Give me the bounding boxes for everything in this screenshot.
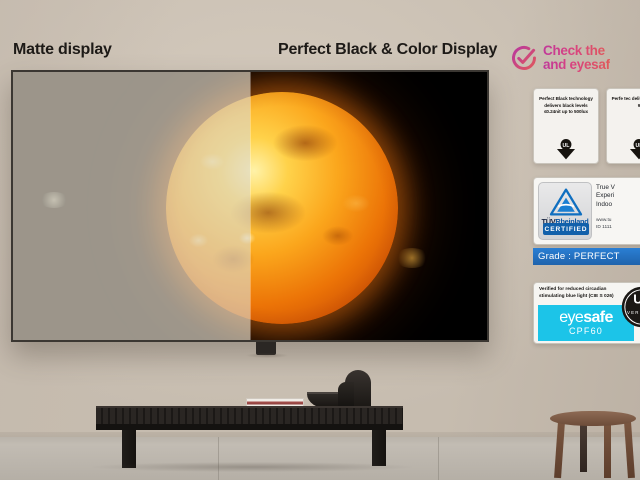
grade-label: Grade : PERFECT: [533, 251, 620, 262]
svg-text:UL: UL: [563, 143, 570, 149]
card-text: Perfect Black technology delivers black …: [534, 89, 598, 116]
svg-text:UL: UL: [633, 291, 640, 306]
banner-line-2: and eyesaf: [543, 58, 610, 72]
floor-tile-seam: [218, 437, 219, 480]
banner-text-block: Check the and eyesaf: [543, 44, 610, 72]
bench-shadow: [92, 462, 412, 472]
eyesafe-note: Verified for reduced circadian stimulati…: [539, 287, 631, 300]
floor-tile-seam: [438, 437, 439, 480]
bench-edge: [96, 424, 403, 430]
card-text: Perfe tec deliv consis >99 9: [607, 89, 640, 109]
label-perfect-black-display: Perfect Black & Color Display: [278, 41, 497, 59]
sculpture-inner: [338, 382, 354, 408]
room-floor: [0, 437, 640, 480]
svg-text:UL: UL: [636, 143, 640, 149]
certification-card-perfect-black: Perfect Black technology delivers black …: [533, 88, 599, 164]
split-seam: [250, 72, 251, 340]
ul-verified-icon: UL VERIFIED: [620, 285, 640, 329]
grade-badge: Grade : PERFECT: [533, 248, 640, 265]
tv-foot-shadow: [246, 353, 288, 358]
tuv-desc-line-3: Indoo: [596, 201, 640, 209]
ul-verified-icon: UL: [553, 138, 579, 160]
television-screen: [11, 70, 489, 342]
wooden-stool-top: [550, 411, 636, 426]
tuv-desc-line-2: Experi: [596, 192, 640, 200]
tuv-rheinland-certificate: TÜVRheinland CERTIFIED True V Experi Ind…: [533, 177, 640, 245]
tuv-description: True V Experi Indoo www.tu ID 1111: [596, 184, 640, 231]
eyesafe-certificate: Verified for reduced circadian stimulati…: [533, 282, 640, 344]
tuv-desc-line-1: True V: [596, 184, 640, 192]
certification-card-perfect-color: Perfe tec deliv consis >99 9 UL: [606, 88, 640, 164]
eyesafe-wordmark: eyesafe: [559, 310, 613, 326]
stool-leg: [604, 422, 611, 478]
bench-slatted-top: [96, 406, 403, 424]
sun-image: [13, 72, 487, 340]
certification-banner: Check the and eyesaf: [510, 38, 640, 78]
tuv-id: ID 1111: [596, 225, 640, 231]
screenshot-root: Matte display Perfect Black & Color Disp…: [0, 0, 640, 480]
eyesafe-cpf-label: CPF60: [569, 327, 603, 336]
svg-text:VERIFIED: VERIFIED: [627, 310, 640, 315]
matte-haze-overlay: [13, 72, 250, 340]
label-matte-display: Matte display: [13, 41, 112, 59]
stool-leg: [580, 422, 587, 472]
sun-flare-right: [395, 248, 429, 268]
bench-leg-right: [372, 430, 386, 466]
banner-line-1: Check the: [543, 44, 610, 58]
tuv-certified-label: CERTIFIED: [543, 223, 589, 235]
check-circle-icon: [510, 44, 538, 72]
tuv-badge: TÜVRheinland CERTIFIED: [538, 182, 592, 240]
ul-verified-icon: UL: [626, 138, 640, 160]
tuv-triangle-icon: [548, 187, 584, 217]
